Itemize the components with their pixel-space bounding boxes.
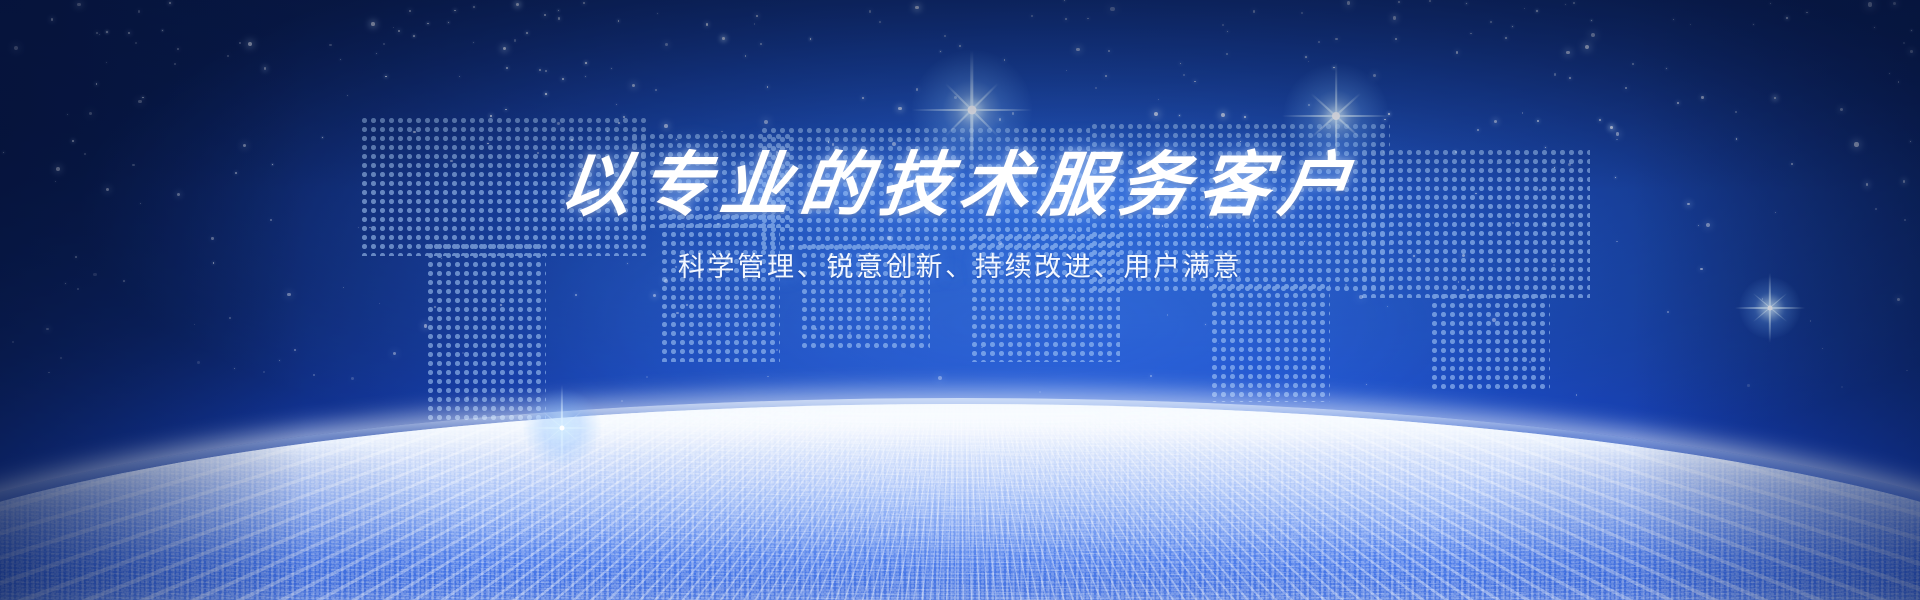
banner-copy: 以专业的技术服务客户 科学管理、锐意创新、持续改进、用户满意 xyxy=(0,150,1920,281)
hero-banner: 以专业的技术服务客户 科学管理、锐意创新、持续改进、用户满意 xyxy=(0,0,1920,600)
banner-headline: 以专业的技术服务客户 xyxy=(0,150,1920,220)
sky-center-glow xyxy=(0,0,1920,600)
banner-subheadline: 科学管理、锐意创新、持续改进、用户满意 xyxy=(0,254,1920,281)
